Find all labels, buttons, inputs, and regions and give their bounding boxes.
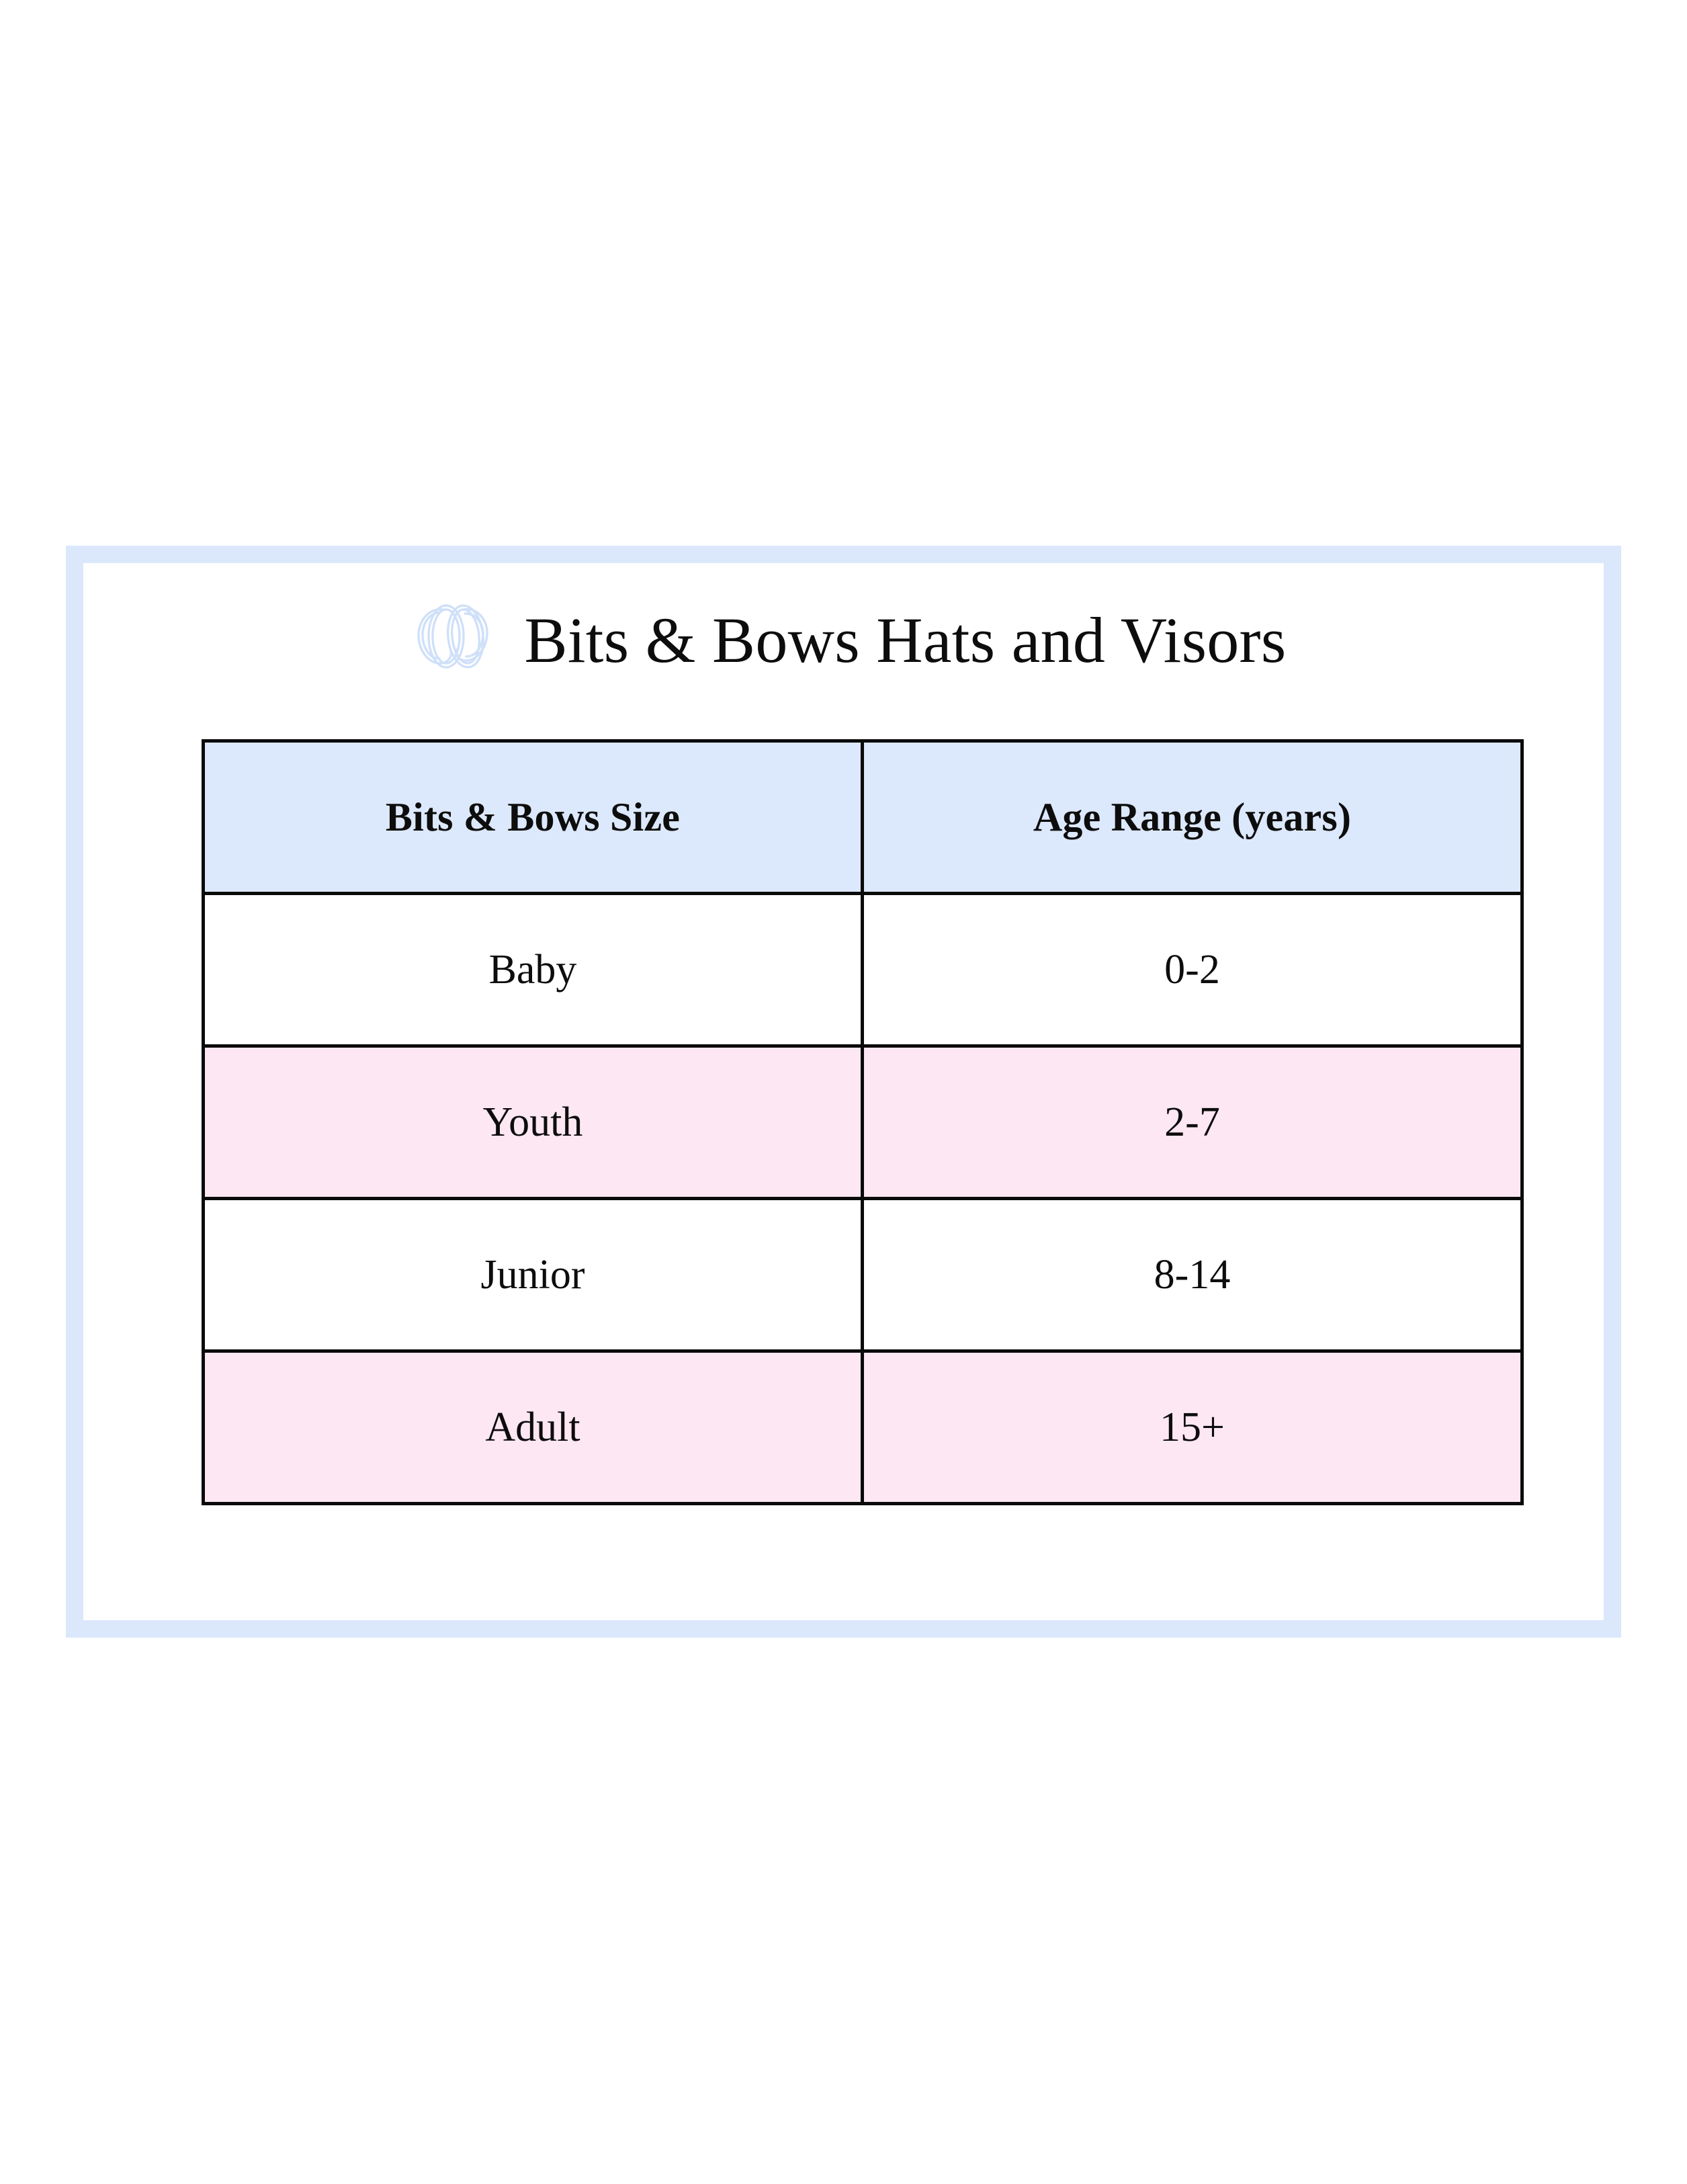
size-chart-card-inner: Bits & Bows Hats and Visors Bits & Bows … [83,563,1604,1620]
table-row: Baby 0-2 [204,894,1522,1046]
cell-size: Baby [204,894,863,1046]
table-header: Bits & Bows Size Age Range (years) [204,741,1522,894]
bits-and-bows-monogram-icon [401,593,502,687]
cell-size: Adult [204,1351,863,1504]
cell-size: Junior [204,1199,863,1351]
column-header-size: Bits & Bows Size [204,741,863,894]
size-chart-card: Bits & Bows Hats and Visors Bits & Bows … [66,546,1621,1638]
table-row: Adult 15+ [204,1351,1522,1504]
cell-size: Youth [204,1046,863,1199]
cell-age-range: 15+ [863,1351,1522,1504]
table-body: Baby 0-2 Youth 2-7 Junior 8-14 Adult 15+ [204,894,1522,1504]
title-row: Bits & Bows Hats and Visors [83,590,1604,691]
cell-age-range: 8-14 [863,1199,1522,1351]
table-row: Youth 2-7 [204,1046,1522,1199]
page-title: Bits & Bows Hats and Visors [525,608,1287,673]
cell-age-range: 2-7 [863,1046,1522,1199]
table-header-row: Bits & Bows Size Age Range (years) [204,741,1522,894]
column-header-age-range: Age Range (years) [863,741,1522,894]
table-row: Junior 8-14 [204,1199,1522,1351]
size-chart-table: Bits & Bows Size Age Range (years) Baby … [202,739,1524,1505]
cell-age-range: 0-2 [863,894,1522,1046]
